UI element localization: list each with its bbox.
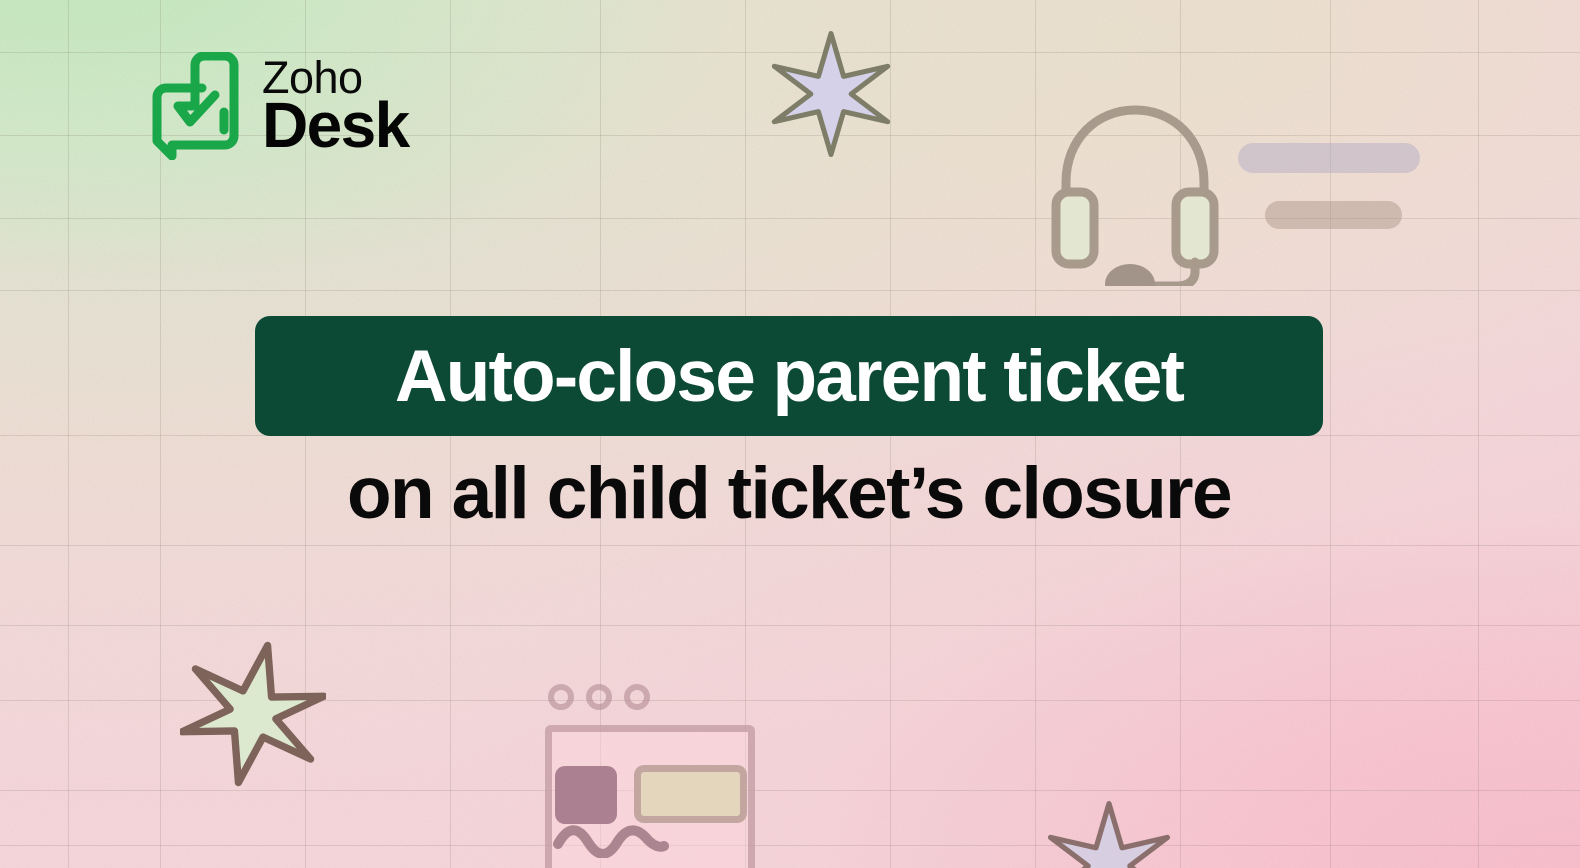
logo-text-desk: Desk: [262, 95, 409, 155]
window-color-swatch: [555, 766, 617, 824]
headline-subtitle: on all child ticket’s closure: [255, 452, 1323, 535]
six-point-star-icon-top: [768, 28, 894, 160]
window-dot-icon: [586, 684, 612, 710]
squiggle-line-icon: [552, 824, 670, 858]
zoho-desk-logo[interactable]: Zoho Desk: [152, 52, 409, 160]
text-bar-tan: [1265, 201, 1402, 229]
zoho-desk-wordmark: Zoho Desk: [262, 57, 409, 155]
poster-canvas: Zoho Desk Auto-close parent ticket on al…: [0, 0, 1580, 868]
headline-banner-text: Auto-close parent ticket: [395, 335, 1183, 418]
window-control-dots: [548, 684, 650, 710]
six-point-star-icon-bottom: [1044, 800, 1174, 868]
headline-banner: Auto-close parent ticket: [255, 316, 1323, 436]
six-point-star-icon-left: [180, 638, 326, 790]
window-dot-icon: [548, 684, 574, 710]
headset-icon: [1040, 96, 1230, 286]
text-bar-lavender: [1238, 143, 1420, 173]
window-input-field-placeholder: [634, 765, 747, 823]
zoho-desk-speech-bubble-check-icon: [152, 52, 244, 160]
window-dot-icon: [624, 684, 650, 710]
